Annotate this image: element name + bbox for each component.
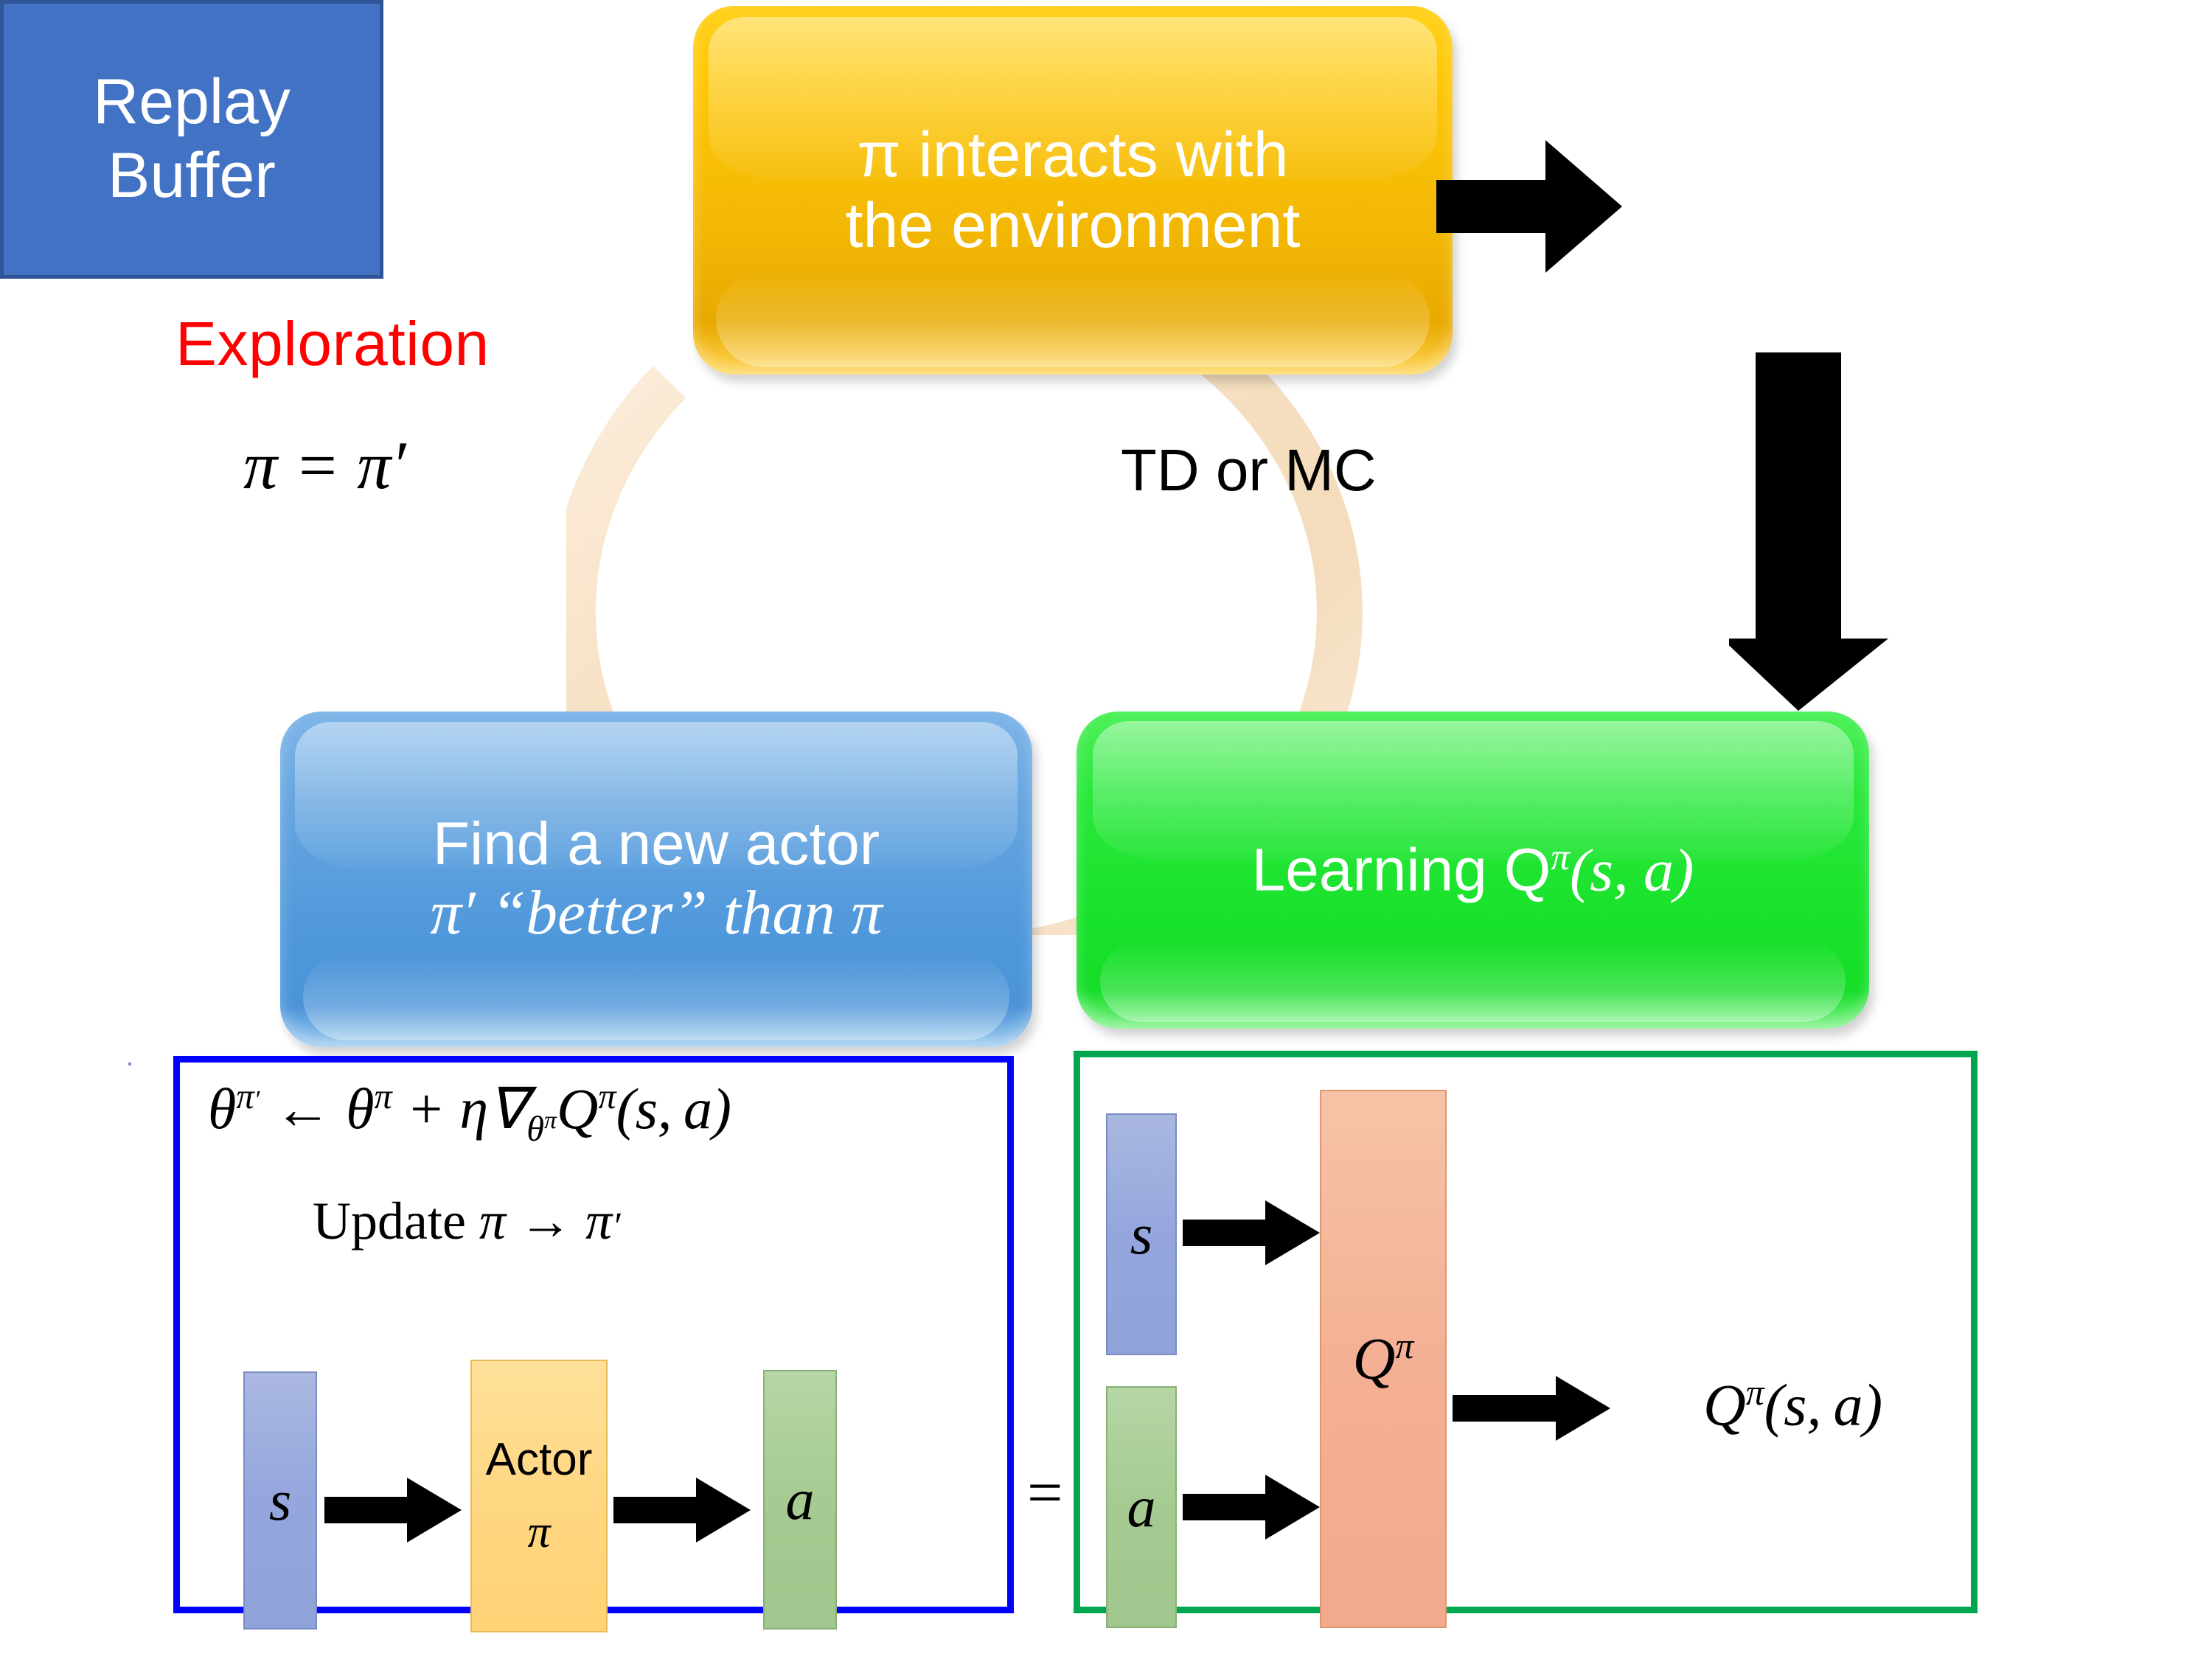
td-or-mc-label: TD or MC [1121, 437, 1377, 504]
actor-network-block: Actor π [470, 1360, 608, 1632]
q-net-action-label: a [1127, 1474, 1156, 1540]
q-output-label: Qπ(s, a) [1703, 1371, 1882, 1440]
exploration-label: Exploration [175, 308, 490, 380]
q-net-action-block: a [1106, 1386, 1177, 1628]
find-new-actor-line2: π′ “better” than π [293, 878, 1019, 949]
replay-buffer-box[interactable]: Replay Buffer [0, 0, 383, 279]
q-net-state-label: s [1130, 1201, 1152, 1267]
environment-line1: π interacts with [706, 119, 1439, 190]
learning-q-args: (s, a) [1570, 836, 1694, 903]
arrow-replay-to-learning-icon [1729, 352, 1913, 714]
pi-equals-pi-prime-label: π = π′ [243, 426, 406, 504]
arrow-env-to-replay-icon [1436, 134, 1628, 279]
arrow-q-to-output-icon [1453, 1371, 1615, 1445]
find-new-actor-line1: Find a new actor [293, 810, 1019, 878]
learning-q-base: Learning Q [1252, 836, 1551, 903]
arrow-action-to-q-icon [1183, 1470, 1323, 1544]
actor-net-action-label: a [786, 1467, 815, 1533]
update-pi-label: Update π → π′ [313, 1191, 620, 1252]
actor-net-action-block: a [763, 1370, 837, 1630]
q-network-block: Qπ [1320, 1090, 1447, 1628]
learning-q-box[interactable]: Learning Qπ(s, a) [1077, 712, 1869, 1029]
actor-network-label: Actor [486, 1433, 593, 1486]
arrow-actor-to-action-icon [613, 1473, 754, 1547]
actor-network-policy-symbol: π [527, 1506, 550, 1559]
gradient-update-formula: θπ′ ← θπ + η∇θπQπ(s, a) [208, 1076, 731, 1150]
environment-line2: the environment [706, 190, 1439, 261]
replay-buffer-line2: Buffer [93, 139, 291, 213]
find-new-actor-box[interactable]: Find a new actor π′ “better” than π [280, 712, 1032, 1047]
actor-net-state-block: s [243, 1371, 317, 1630]
pi-equals-value: π = π′ [243, 428, 406, 503]
diagram-canvas: π interacts with the environment Replay … [0, 0, 2212, 1659]
arrow-state-to-q-icon [1183, 1196, 1323, 1270]
learning-q-superscript: π [1551, 836, 1569, 877]
equals-sign-label: = [1027, 1455, 1063, 1529]
actor-state-block [128, 1062, 131, 1065]
replay-buffer-line1: Replay [93, 66, 291, 139]
q-network-label: Qπ [1353, 1325, 1414, 1394]
arrow-state-to-actor-icon [324, 1473, 465, 1547]
q-net-state-block: s [1106, 1113, 1177, 1355]
actor-net-state-label: s [269, 1467, 291, 1534]
environment-box[interactable]: π interacts with the environment [693, 6, 1453, 375]
